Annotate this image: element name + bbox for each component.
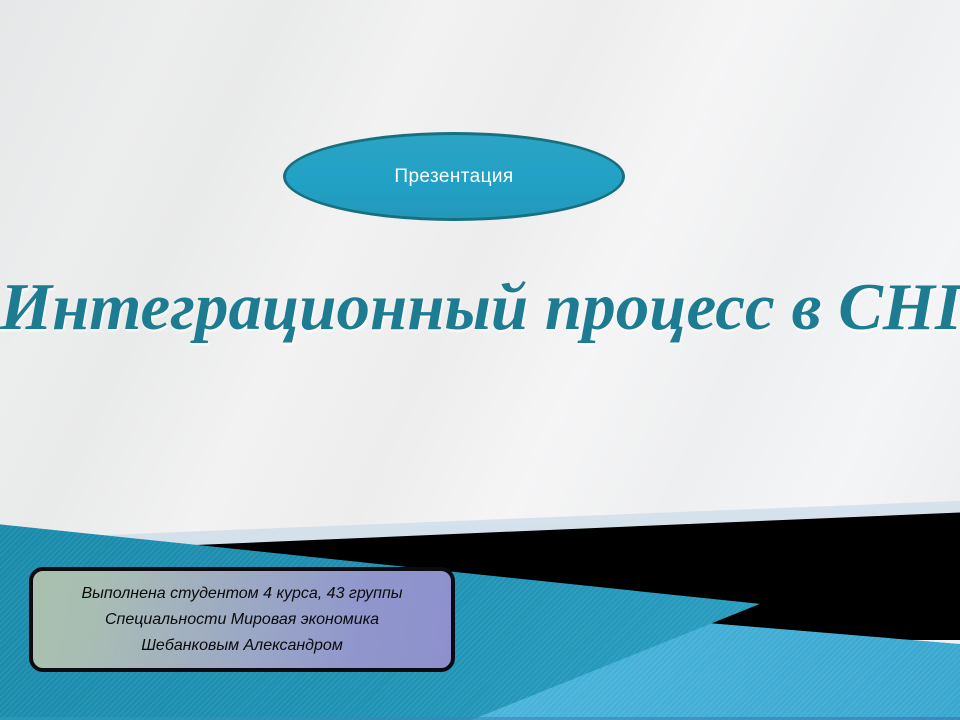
author-line-specialty: Специальности Мировая экономика xyxy=(105,608,379,632)
slide-title: Интеграционный процесс в СНГ xyxy=(0,272,960,342)
author-info-box: Выполнена студентом 4 курса, 43 группы С… xyxy=(29,567,455,672)
author-line-course: Выполнена студентом 4 курса, 43 группы xyxy=(81,582,402,606)
presentation-badge-label: Презентация xyxy=(394,166,513,188)
presentation-slide: Презентация Интеграционный процесс в СНГ… xyxy=(0,0,960,720)
presentation-badge-ellipse: Презентация xyxy=(283,132,625,221)
author-line-name: Шебанковым Александром xyxy=(141,634,343,658)
